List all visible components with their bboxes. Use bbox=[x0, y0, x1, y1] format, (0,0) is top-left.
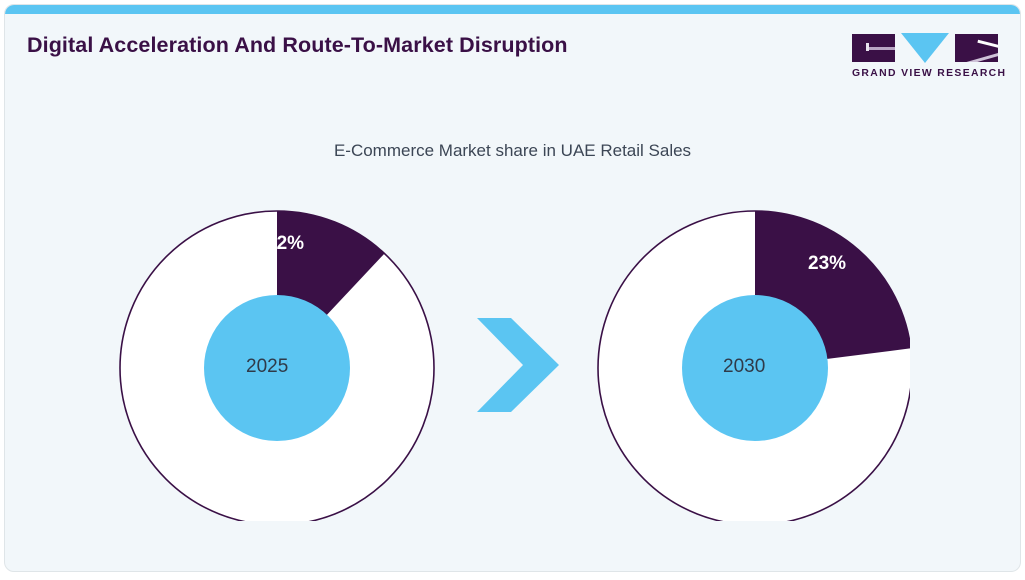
top-accent-bar bbox=[5, 5, 1020, 14]
g-bar-shape bbox=[866, 47, 895, 50]
data-label-2025: 12% bbox=[266, 233, 304, 255]
brand-logo: GRAND VIEW RESEARCH bbox=[852, 33, 998, 79]
g-tick-shape bbox=[866, 43, 869, 51]
logo-wordmark: GRAND VIEW RESEARCH bbox=[852, 68, 998, 79]
logo-marks bbox=[852, 33, 998, 63]
data-label-2030: 23% bbox=[808, 253, 846, 275]
r-slash-shape bbox=[966, 51, 998, 62]
gvr-r-block-icon bbox=[955, 34, 998, 62]
slide-canvas: Digital Acceleration And Route-To-Market… bbox=[4, 4, 1021, 572]
chart-title: E-Commerce Market share in UAE Retail Sa… bbox=[5, 141, 1020, 161]
chevron-right-icon bbox=[475, 315, 561, 415]
gvr-v-triangle-icon bbox=[901, 33, 949, 63]
page-title: Digital Acceleration And Route-To-Market… bbox=[27, 33, 568, 58]
donut-chart-2030: 23% 2030 bbox=[590, 191, 910, 521]
r-slash-shape-2 bbox=[977, 40, 998, 49]
center-label-2030: 2030 bbox=[723, 356, 765, 378]
donut-chart-2025: 12% 2025 bbox=[118, 191, 438, 521]
gvr-g-block-icon bbox=[852, 34, 895, 62]
chart-area: 12% 2025 23% 2030 bbox=[5, 191, 1020, 551]
center-label-2025: 2025 bbox=[246, 356, 288, 378]
